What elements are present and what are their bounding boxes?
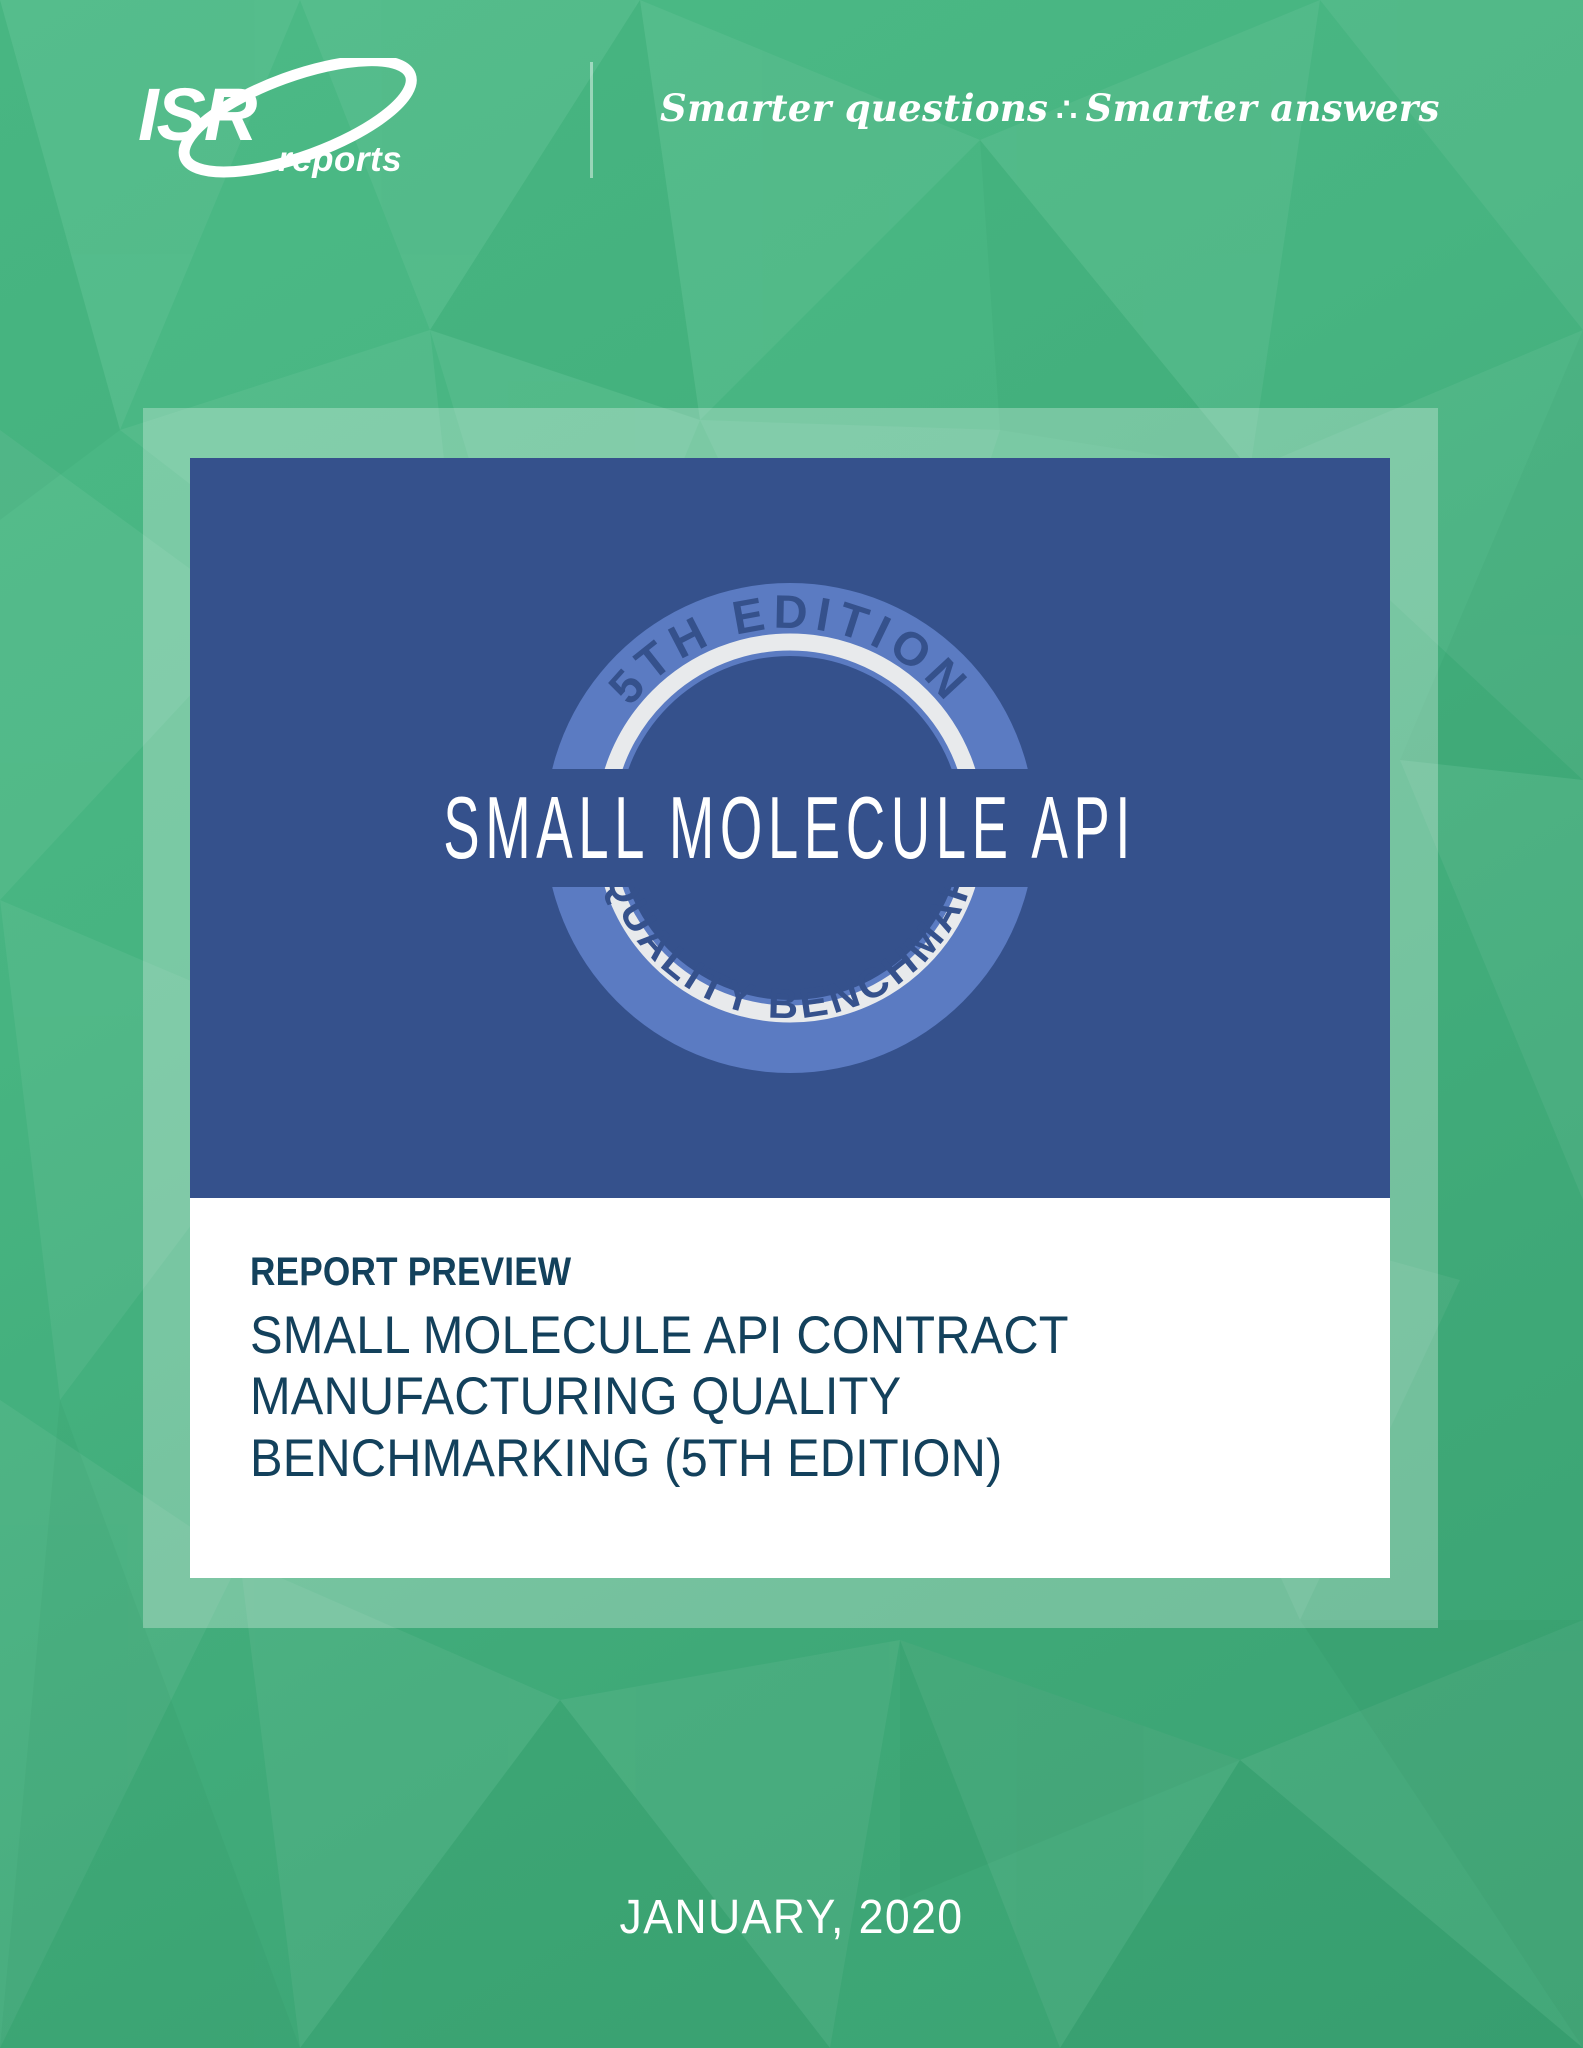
report-title-line-2: MANUFACTURING QUALITY xyxy=(250,1366,1244,1427)
tagline: Smarter questions∴Smarter answers xyxy=(660,86,1460,130)
seal-center-band: SMALL MOLECULE API xyxy=(190,769,1390,887)
tagline-right: Smarter answers xyxy=(1085,86,1439,130)
svg-text:reports: reports xyxy=(278,140,402,178)
svg-text:ISR: ISR xyxy=(138,73,257,156)
cover-frame: 5TH EDITION CMO QUALITY BENCHMARKING SMA… xyxy=(143,408,1438,1628)
page-header: ISR reports Smarter questions∴Smarter an… xyxy=(0,0,1583,230)
report-title-line-3: BENCHMARKING (5TH EDITION) xyxy=(250,1428,1244,1489)
tagline-left: Smarter questions xyxy=(660,86,1048,130)
report-title-line-1: SMALL MOLECULE API CONTRACT xyxy=(250,1305,1244,1366)
isr-reports-logo: ISR reports xyxy=(128,58,458,178)
therefore-icon: ∴ xyxy=(1048,90,1085,129)
cover-card: 5TH EDITION CMO QUALITY BENCHMARKING SMA… xyxy=(190,458,1390,1578)
report-title: SMALL MOLECULE API CONTRACT MANUFACTURIN… xyxy=(250,1305,1244,1489)
report-kicker: REPORT PREVIEW xyxy=(250,1250,1200,1295)
header-divider xyxy=(590,62,593,178)
seal-center-text: SMALL MOLECULE API xyxy=(444,784,1137,872)
publication-date: JANUARY, 2020 xyxy=(55,1890,1527,1945)
isr-logo-mark: ISR reports xyxy=(128,58,458,178)
badge-panel: 5TH EDITION CMO QUALITY BENCHMARKING SMA… xyxy=(190,458,1390,1198)
title-panel: REPORT PREVIEW SMALL MOLECULE API CONTRA… xyxy=(190,1198,1390,1578)
